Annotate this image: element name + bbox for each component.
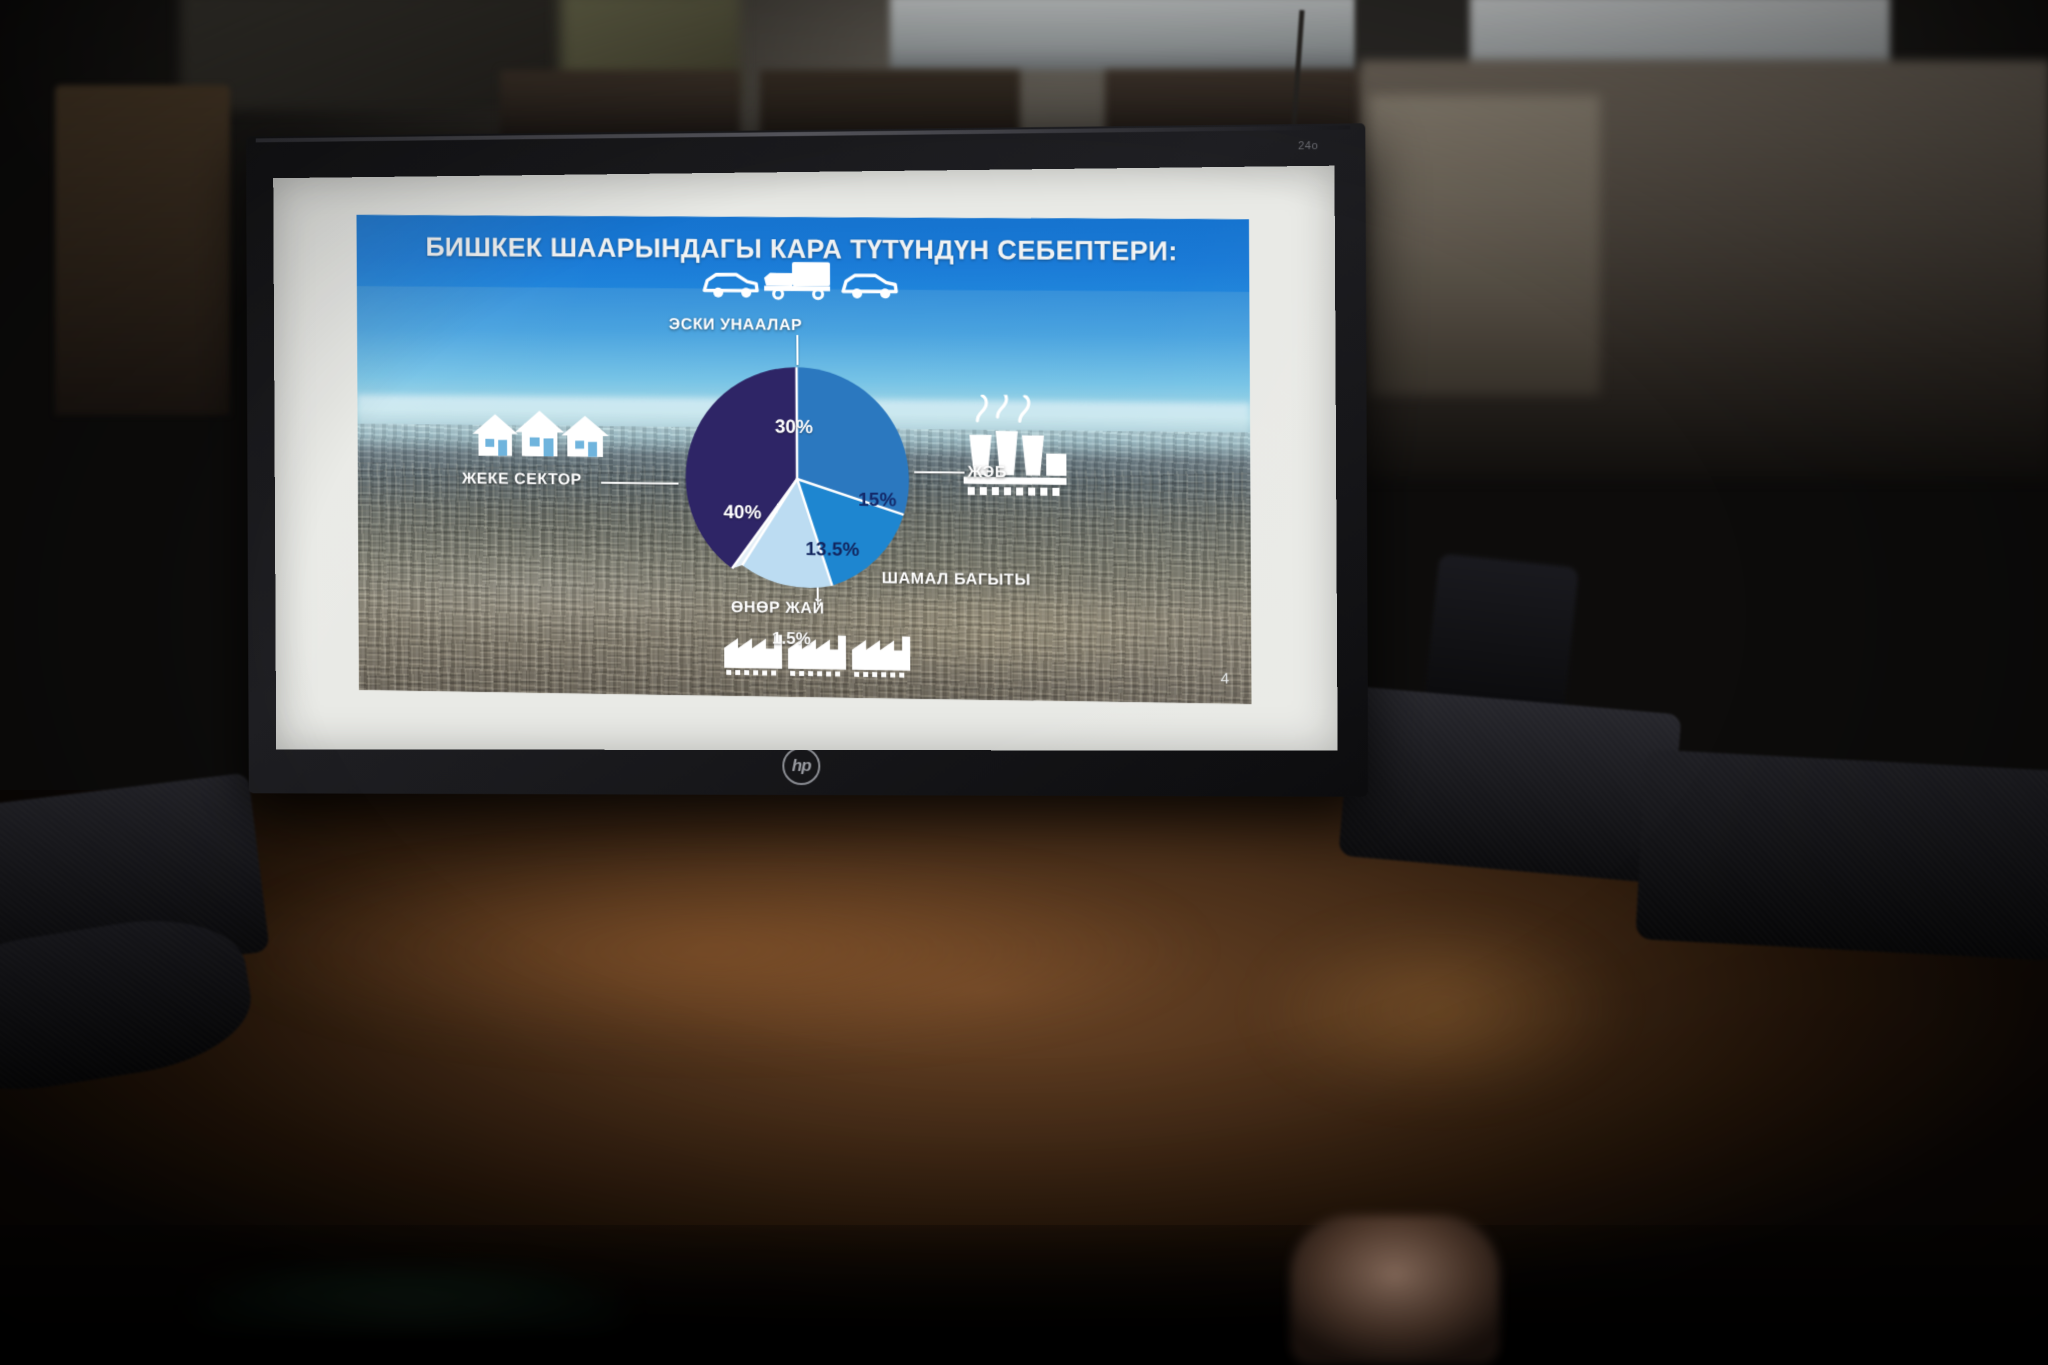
mic-grill-icon	[1338, 686, 1682, 884]
power-plant-icon	[961, 394, 1073, 506]
pie-value-wind: 13.5%	[805, 539, 859, 562]
monitor-screen: БИШКЕК ШААРЫНДАГЫ КАРА ТҮТҮНДҮН СЕБЕПТЕР…	[273, 166, 1337, 751]
pie-value-chp: 15%	[858, 490, 896, 512]
mic-grill-icon	[1635, 749, 2048, 961]
pie-value-industry: 1.5%	[772, 629, 811, 650]
conference-mic-right-bottom	[1635, 749, 2048, 961]
leader-line-cars	[796, 335, 798, 365]
label-private-sector: ЖЕКЕ СЕКТОР	[462, 470, 582, 489]
cars-icon	[700, 256, 900, 308]
window-left	[890, 0, 1360, 70]
pie-chart-svg	[683, 364, 912, 594]
label-chp: ЖЭБ	[968, 464, 1008, 482]
presentation-slide: БИШКЕК ШААРЫНДАГЫ КАРА ТҮТҮНДҮН СЕБЕПТЕР…	[356, 215, 1251, 704]
desk-front-edge	[0, 1225, 2048, 1365]
pie-value-private-sector: 40%	[723, 502, 761, 524]
desk-warm-glow	[1180, 880, 1700, 1140]
chair-left	[55, 85, 230, 415]
hand	[1290, 1215, 1500, 1365]
slide-page-number: 4	[1220, 670, 1229, 687]
monitor-model-tag: 24o	[1298, 140, 1318, 152]
factory-icon	[722, 628, 912, 684]
label-industry: ӨНӨР ЖАЙ	[731, 599, 825, 618]
pie-value-cars: 30%	[775, 417, 813, 439]
houses-icon	[467, 404, 615, 470]
hp-logo-icon: hp	[782, 747, 820, 785]
pie-chart	[683, 364, 912, 594]
conference-mic-right-top	[1338, 686, 1682, 884]
wall-right-light	[1370, 95, 1600, 395]
label-cars: ЭСКИ УНААЛАР	[669, 316, 803, 335]
monitor: 24o hp БИШКЕК ШААРЫНДАГЫ КАРА ТҮТҮНДҮН С…	[240, 130, 1360, 795]
